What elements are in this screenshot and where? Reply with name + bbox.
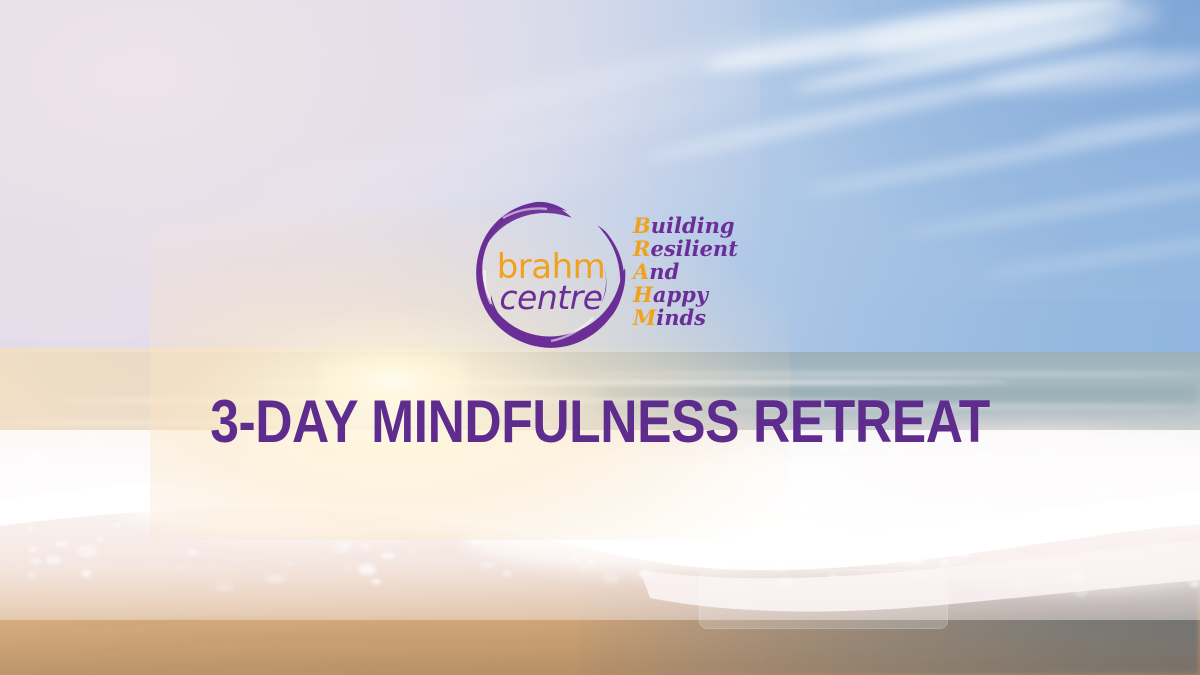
tagline-word: esilient	[650, 236, 737, 261]
foam-speck	[287, 563, 293, 566]
foam-speck	[977, 493, 990, 498]
foam-speck	[240, 456, 256, 467]
foam-speck	[261, 482, 273, 488]
wave-crest	[560, 372, 1200, 376]
foam-speck	[216, 582, 234, 592]
foam-speck	[1096, 486, 1114, 496]
foam-speck	[712, 477, 719, 483]
foam-speck	[55, 541, 68, 546]
foam-speck	[717, 560, 727, 563]
tagline-row: Minds	[633, 306, 743, 329]
foam-speck	[513, 499, 518, 503]
foam-speck	[588, 560, 594, 563]
foam-speck	[748, 542, 756, 545]
foam-speck	[938, 517, 948, 524]
foam-speck	[924, 543, 943, 553]
foam-speck	[1151, 540, 1156, 543]
foam-speck	[1011, 580, 1025, 590]
foam-speck	[361, 543, 371, 550]
foam-speck	[846, 494, 863, 503]
foam-speck	[1113, 582, 1121, 587]
foam-speck	[862, 486, 873, 495]
foam-speck	[378, 458, 383, 461]
foam-speck	[29, 505, 36, 511]
foam-speck	[315, 472, 327, 481]
foam-speck	[364, 517, 367, 519]
tagline-initial: M	[633, 305, 656, 330]
foam-speck	[13, 484, 32, 499]
foam-speck	[480, 563, 494, 568]
page-title: 3-DAY MINDFULNESS RETREAT	[84, 392, 1116, 452]
foam-speck	[223, 526, 236, 534]
foam-speck	[87, 480, 95, 486]
foam-speck	[1053, 496, 1058, 500]
tagline-initial: R	[633, 236, 650, 261]
foam-speck	[940, 559, 950, 566]
foam-speck	[479, 520, 491, 528]
tagline-initial: A	[633, 259, 649, 284]
foam-speck	[1074, 586, 1088, 598]
foam-speck	[822, 480, 834, 488]
foam-speck	[239, 490, 252, 501]
foam-speck	[905, 555, 924, 564]
tagline-word: appy	[653, 282, 708, 307]
foam-speck	[188, 550, 198, 555]
foam-speck	[78, 545, 96, 558]
foam-speck	[278, 512, 293, 521]
foam-speck	[1058, 579, 1064, 583]
foam-speck	[95, 537, 104, 541]
foam-speck	[371, 579, 381, 583]
logo-tagline: BuildingResilientAndHappyMinds	[633, 214, 743, 329]
foam-speck	[192, 506, 202, 512]
foam-speck	[1068, 571, 1079, 576]
foam-speck	[46, 556, 61, 564]
foam-speck	[1039, 510, 1057, 524]
tagline-row: Building	[633, 214, 743, 237]
foam-speck	[1146, 509, 1160, 520]
foam-speck	[81, 570, 91, 577]
tagline-word: uilding	[651, 213, 735, 238]
tagline-word: nd	[649, 259, 679, 284]
foam-speck	[489, 534, 493, 537]
event-poster: brahm centre BuildingResilientAndHappyMi…	[0, 0, 1200, 675]
translucent-placeholder-box[interactable]	[699, 569, 948, 629]
foam-speck	[30, 558, 41, 564]
tagline-initial: B	[633, 213, 651, 238]
tagline-row: Resilient	[633, 237, 743, 260]
tagline-row: And	[633, 260, 743, 283]
foam-speck	[958, 550, 969, 558]
brahm-centre-logo: brahm centre BuildingResilientAndHappyMi…	[473, 196, 735, 356]
tagline-initial: H	[633, 282, 653, 307]
foam-speck	[807, 535, 824, 547]
foam-speck	[809, 512, 817, 518]
foam-speck	[410, 549, 416, 554]
tagline-row: Happy	[633, 283, 743, 306]
foam-speck	[345, 568, 352, 571]
foam-speck	[1188, 507, 1200, 514]
foam-speck	[443, 514, 459, 527]
foam-speck	[896, 498, 913, 512]
foam-speck	[1190, 582, 1199, 587]
foam-speck	[528, 535, 534, 539]
foam-speck	[604, 522, 612, 525]
foam-speck	[649, 539, 662, 549]
tagline-word: inds	[656, 305, 706, 330]
foam-speck	[502, 570, 513, 577]
foam-speck	[974, 497, 986, 507]
foam-speck	[28, 573, 34, 578]
foam-speck	[779, 464, 783, 466]
foam-speck	[266, 575, 285, 583]
foam-speck	[471, 540, 479, 544]
foam-speck	[744, 519, 758, 526]
foam-speck	[687, 559, 697, 566]
foam-speck	[27, 451, 46, 462]
foam-speck	[877, 459, 882, 461]
foam-speck	[1075, 527, 1081, 531]
foam-speck	[523, 459, 529, 463]
logo-wordmark: brahm centre	[477, 250, 625, 314]
